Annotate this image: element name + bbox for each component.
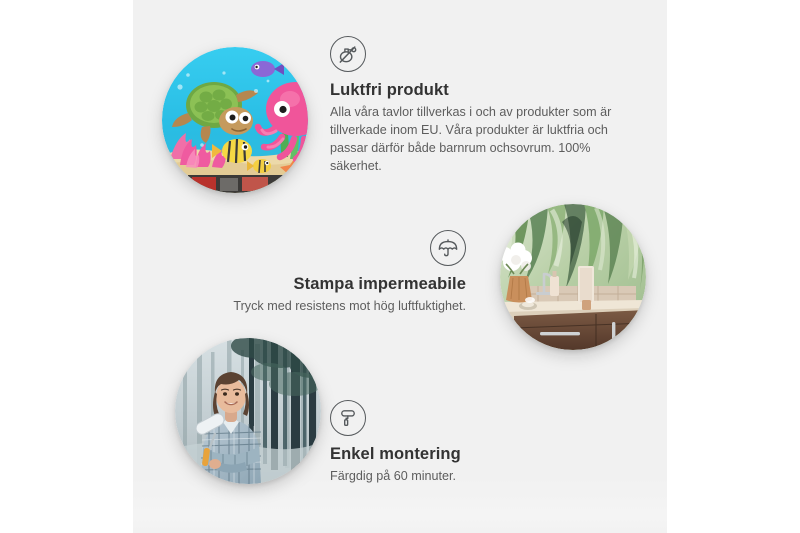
feature-title: Luktfri produkt (330, 81, 630, 100)
feature-body: Färgdig på 60 minuter. (330, 468, 570, 486)
feature-body: Alla våra tavlor tillverkas i och av pro… (330, 104, 630, 176)
no-smell-spray-icon (330, 36, 366, 72)
feature-odourless: Luktfri produkt Alla våra tavlor tillver… (330, 36, 630, 176)
feature-title: Stampa impermeabile (218, 275, 466, 294)
paint-roller-icon (330, 400, 366, 436)
underwater-cartoon-photo (162, 47, 308, 193)
feature-title: Enkel montering (330, 445, 570, 464)
bathroom-botanical-wallpaper-photo (500, 204, 646, 350)
woman-paint-roller-forest-photo (175, 338, 321, 484)
infographic-stage: Luktfri produkt Alla våra tavlor tillver… (0, 0, 800, 533)
feature-waterproof: Stampa impermeabile Tryck med resistens … (218, 230, 466, 316)
umbrella-icon (430, 230, 466, 266)
feature-easy-install: Enkel montering Färgdig på 60 minuter. (330, 400, 570, 486)
feature-body: Tryck med resistens mot hög luftfuktighe… (218, 298, 466, 316)
